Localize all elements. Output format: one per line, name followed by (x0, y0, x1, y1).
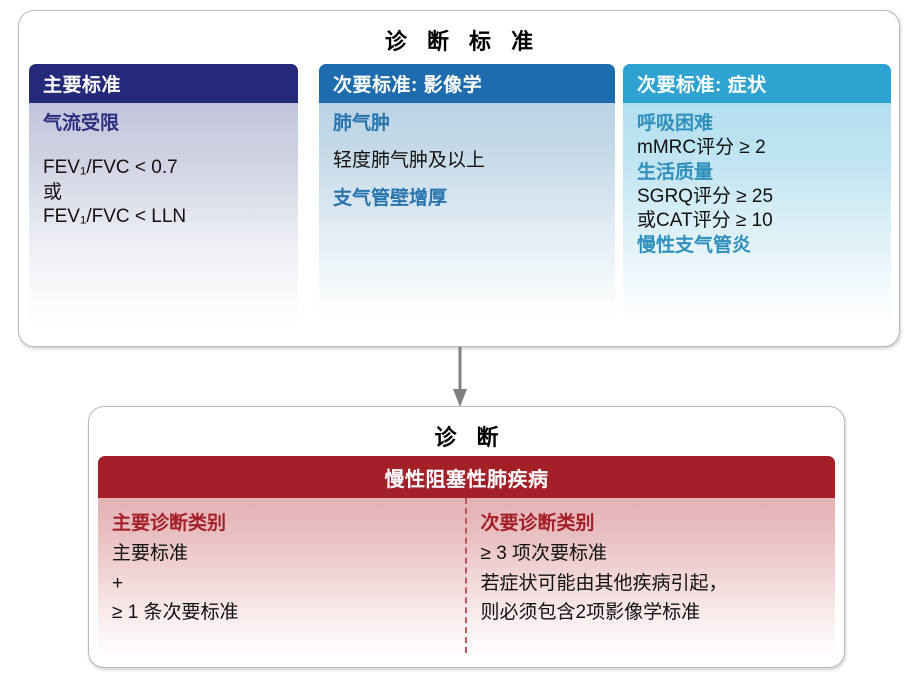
diagnosis-body: 主要诊断类别 主要标准 + ≥ 1 条次要标准 次要诊断类别 ≥ 3 项次要标准… (98, 498, 835, 653)
criteria-panel-title: 诊 断 标 准 (19, 24, 899, 56)
criteria-line-emphysema-severity: 轻度肺气肿及以上 (333, 149, 601, 173)
criteria-line-sgrq: SGRQ评分 ≥ 25 (637, 185, 877, 209)
criteria-line-or: 或 (43, 181, 284, 205)
diagnosis-column-major: 主要诊断类别 主要标准 + ≥ 1 条次要标准 (98, 498, 467, 653)
criteria-column-symptoms: 次要标准: 症状 呼吸困难 mMRC评分 ≥ 2 生活质量 SGRQ评分 ≥ 2… (623, 64, 891, 327)
spacer (43, 136, 284, 156)
criteria-column-major-body: 气流受限 FEV₁/FVC < 0.7 或 FEV₁/FVC < LLN (29, 103, 298, 327)
criteria-line-fev1-fvc-lln: FEV₁/FVC < LLN (43, 205, 284, 229)
diagnosis-minor-line-1: ≥ 3 项次要标准 (481, 539, 822, 568)
diagnosis-card: 慢性阻塞性肺疾病 主要诊断类别 主要标准 + ≥ 1 条次要标准 次要诊断类别 … (98, 456, 835, 653)
diagnosis-minor-heading: 次要诊断类别 (481, 509, 822, 538)
criteria-column-major: 主要标准 气流受限 FEV₁/FVC < 0.7 或 FEV₁/FVC < LL… (29, 64, 298, 327)
criteria-column-major-header: 主要标准 (29, 64, 298, 103)
criteria-line-mmrc: mMRC评分 ≥ 2 (637, 136, 877, 160)
criteria-column-imaging: 次要标准: 影像学 肺气肿 轻度肺气肿及以上 支气管壁增厚 (319, 64, 615, 327)
diagnosis-column-minor: 次要诊断类别 ≥ 3 项次要标准 若症状可能由其他疾病引起， 则必须包含2项影像… (467, 498, 836, 653)
subheading-dyspnea: 呼吸困难 (637, 112, 877, 136)
criteria-panel: 诊 断 标 准 主要标准 气流受限 FEV₁/FVC < 0.7 或 FEV₁/… (18, 10, 900, 347)
diagnosis-major-line-1: 主要标准 (112, 539, 451, 568)
subheading-emphysema: 肺气肿 (333, 112, 601, 136)
subheading-chronic-bronchitis: 慢性支气管炎 (637, 234, 877, 258)
criteria-column-symptoms-body: 呼吸困难 mMRC评分 ≥ 2 生活质量 SGRQ评分 ≥ 25 或CAT评分 … (623, 103, 891, 327)
subheading-quality-of-life: 生活质量 (637, 161, 877, 185)
diagnosis-panel: 诊 断 慢性阻塞性肺疾病 主要诊断类别 主要标准 + ≥ 1 条次要标准 次要诊… (88, 406, 845, 668)
subheading-bronchial-wall-thickening: 支气管壁增厚 (333, 187, 601, 211)
criteria-column-imaging-header: 次要标准: 影像学 (319, 64, 615, 103)
diagnosis-panel-title: 诊 断 (89, 420, 844, 452)
subheading-airflow-limitation: 气流受限 (43, 112, 284, 136)
criteria-line-cat: 或CAT评分 ≥ 10 (637, 209, 877, 233)
spacer (333, 136, 601, 149)
diagnosis-major-line-2: + (112, 569, 451, 598)
spacer (333, 174, 601, 187)
diagnosis-disease-name: 慢性阻塞性肺疾病 (98, 456, 835, 498)
diagnosis-major-heading: 主要诊断类别 (112, 509, 451, 538)
down-arrow-icon (452, 347, 468, 409)
diagnosis-major-line-3: ≥ 1 条次要标准 (112, 598, 451, 627)
criteria-line-fev1-fvc-07: FEV₁/FVC < 0.7 (43, 156, 284, 180)
criteria-column-imaging-body: 肺气肿 轻度肺气肿及以上 支气管壁增厚 (319, 103, 615, 327)
diagnosis-minor-line-2: 若症状可能由其他疾病引起， (481, 569, 822, 598)
criteria-column-symptoms-header: 次要标准: 症状 (623, 64, 891, 103)
diagnosis-minor-line-3: 则必须包含2项影像学标准 (481, 598, 822, 627)
